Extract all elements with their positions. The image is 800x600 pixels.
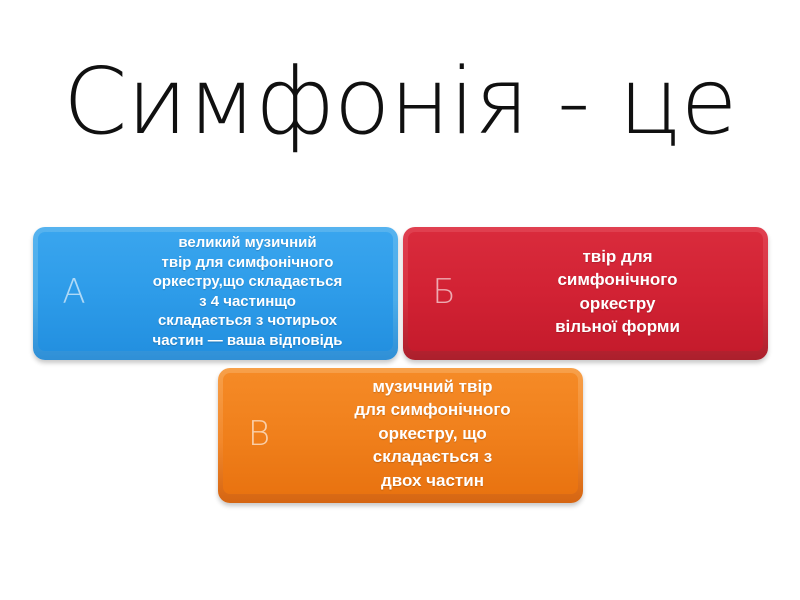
- answer-text-line: музичний твір: [295, 375, 570, 399]
- answer-text-a: великий музичний твір для симфонічного о…: [110, 233, 393, 350]
- answer-text-line: частин — ваша відповідь: [110, 331, 385, 351]
- answer-option-a-inner: А великий музичний твір для симфонічного…: [38, 232, 393, 351]
- answer-text-line: твір для: [480, 245, 755, 269]
- answer-text-line: вільної форми: [480, 315, 755, 339]
- answer-text-line: твір для симфонічного: [110, 253, 385, 273]
- answer-text-line: великий музичний: [110, 233, 385, 253]
- answer-option-a[interactable]: А великий музичний твір для симфонічного…: [33, 227, 398, 360]
- answer-text-line: для симфонічного: [295, 398, 570, 422]
- answer-text-line: двох частин: [295, 469, 570, 493]
- answer-text-line: оркестру: [480, 292, 755, 316]
- answer-text-line: складається з: [295, 445, 570, 469]
- answer-option-c[interactable]: В музичний твір для симфонічного оркестр…: [218, 368, 583, 503]
- answer-text-line: складається з чотирьох: [110, 311, 385, 331]
- answer-text-line: з 4 частинщо: [110, 292, 385, 312]
- answer-text-line: симфонічного: [480, 268, 755, 292]
- answer-text-line: оркестру,що складається: [110, 272, 385, 292]
- answer-text-line: оркестру, що: [295, 422, 570, 446]
- answer-text-c: музичний твір для симфонічного оркестру,…: [295, 375, 578, 493]
- answer-letter-a: А: [38, 275, 110, 309]
- answer-letter-c: В: [223, 417, 295, 451]
- answer-option-b-inner: Б твір для симфонічного оркестру вільної…: [408, 232, 763, 351]
- answer-option-b[interactable]: Б твір для симфонічного оркестру вільної…: [403, 227, 768, 360]
- answer-letter-b: Б: [408, 275, 480, 309]
- answer-option-c-inner: В музичний твір для симфонічного оркестр…: [223, 373, 578, 494]
- answer-text-b: твір для симфонічного оркестру вільної ф…: [480, 245, 763, 339]
- question-title: Симфонія - це: [0, 54, 800, 151]
